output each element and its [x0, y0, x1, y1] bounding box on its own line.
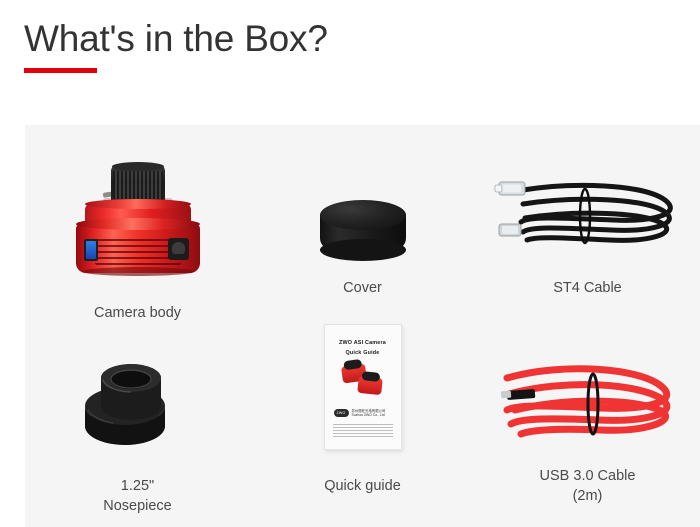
item-quick-guide: ZWO ASI Camera Quick Guide ZWO 苏州振旺光电有限公… — [250, 320, 475, 520]
item-label-st4-cable: ST4 Cable — [553, 278, 622, 298]
contents-row-bottom: 1.25" Nosepiece ZWO ASI Camera Quick Gui… — [25, 320, 700, 520]
st4-cable-svg — [493, 164, 683, 262]
camera-body-art — [33, 147, 243, 277]
item-label-nosepiece: 1.25" Nosepiece — [103, 476, 172, 516]
zwo-logo-icon: ZWO — [334, 409, 349, 417]
page-header: What's in the Box? — [24, 16, 664, 62]
booklet-camera-lower — [357, 376, 383, 395]
st4-cable-illustration — [493, 164, 683, 262]
booklet-company-block: ZWO 苏州振旺光电有限公司 Suzhou ZWO Co., Ltd — [334, 409, 386, 418]
quick-guide-art: ZWO ASI Camera Quick Guide ZWO 苏州振旺光电有限公… — [258, 320, 468, 450]
st4-connector-lower — [499, 224, 521, 236]
nosepiece-svg — [83, 350, 193, 450]
whats-in-the-box-page: What's in the Box? — [0, 0, 700, 527]
usb-connector — [500, 389, 535, 400]
item-usb-cable: USB 3.0 Cable (2m) — [475, 320, 700, 520]
camera-usb-port — [84, 239, 98, 261]
camera-st4-port — [168, 238, 189, 260]
contents-row-top: Camera body Cover — [25, 147, 700, 332]
booklet-company-en: Suzhou ZWO Co., Ltd — [352, 413, 386, 417]
item-st4-cable: ST4 Cable — [475, 147, 700, 332]
item-cover: Cover — [250, 147, 475, 332]
booklet-camera-art — [340, 363, 386, 397]
item-label-usb-cable: USB 3.0 Cable (2m) — [540, 466, 636, 506]
usb-cable-illustration — [493, 348, 683, 450]
booklet-title-line-1: ZWO ASI Camera — [325, 339, 401, 347]
booklet-title-line-2: Quick Guide — [325, 349, 401, 357]
quick-guide-booklet: ZWO ASI Camera Quick Guide ZWO 苏州振旺光电有限公… — [324, 324, 402, 450]
booklet-fine-print — [333, 424, 393, 439]
page-title: What's in the Box? — [24, 16, 664, 62]
item-label-cover: Cover — [343, 278, 382, 298]
cover-art — [258, 147, 468, 262]
st4-connector-upper — [495, 182, 525, 195]
item-camera-body: Camera body — [25, 147, 250, 332]
cover-top-face — [320, 200, 406, 230]
cover-illustration — [320, 200, 406, 262]
title-underline-accent — [24, 68, 97, 73]
item-label-quick-guide: Quick guide — [324, 476, 401, 496]
nosepiece-art — [33, 320, 243, 450]
usb-cable-svg — [493, 348, 683, 450]
usb-cable-art — [483, 320, 693, 450]
nosepiece-illustration — [83, 350, 193, 450]
item-nosepiece: 1.25" Nosepiece — [25, 320, 250, 520]
camera-lens-ribs — [113, 171, 163, 199]
camera-illustration — [73, 165, 203, 277]
box-contents-panel: Camera body Cover — [25, 125, 700, 527]
st4-cable-art — [483, 147, 693, 262]
